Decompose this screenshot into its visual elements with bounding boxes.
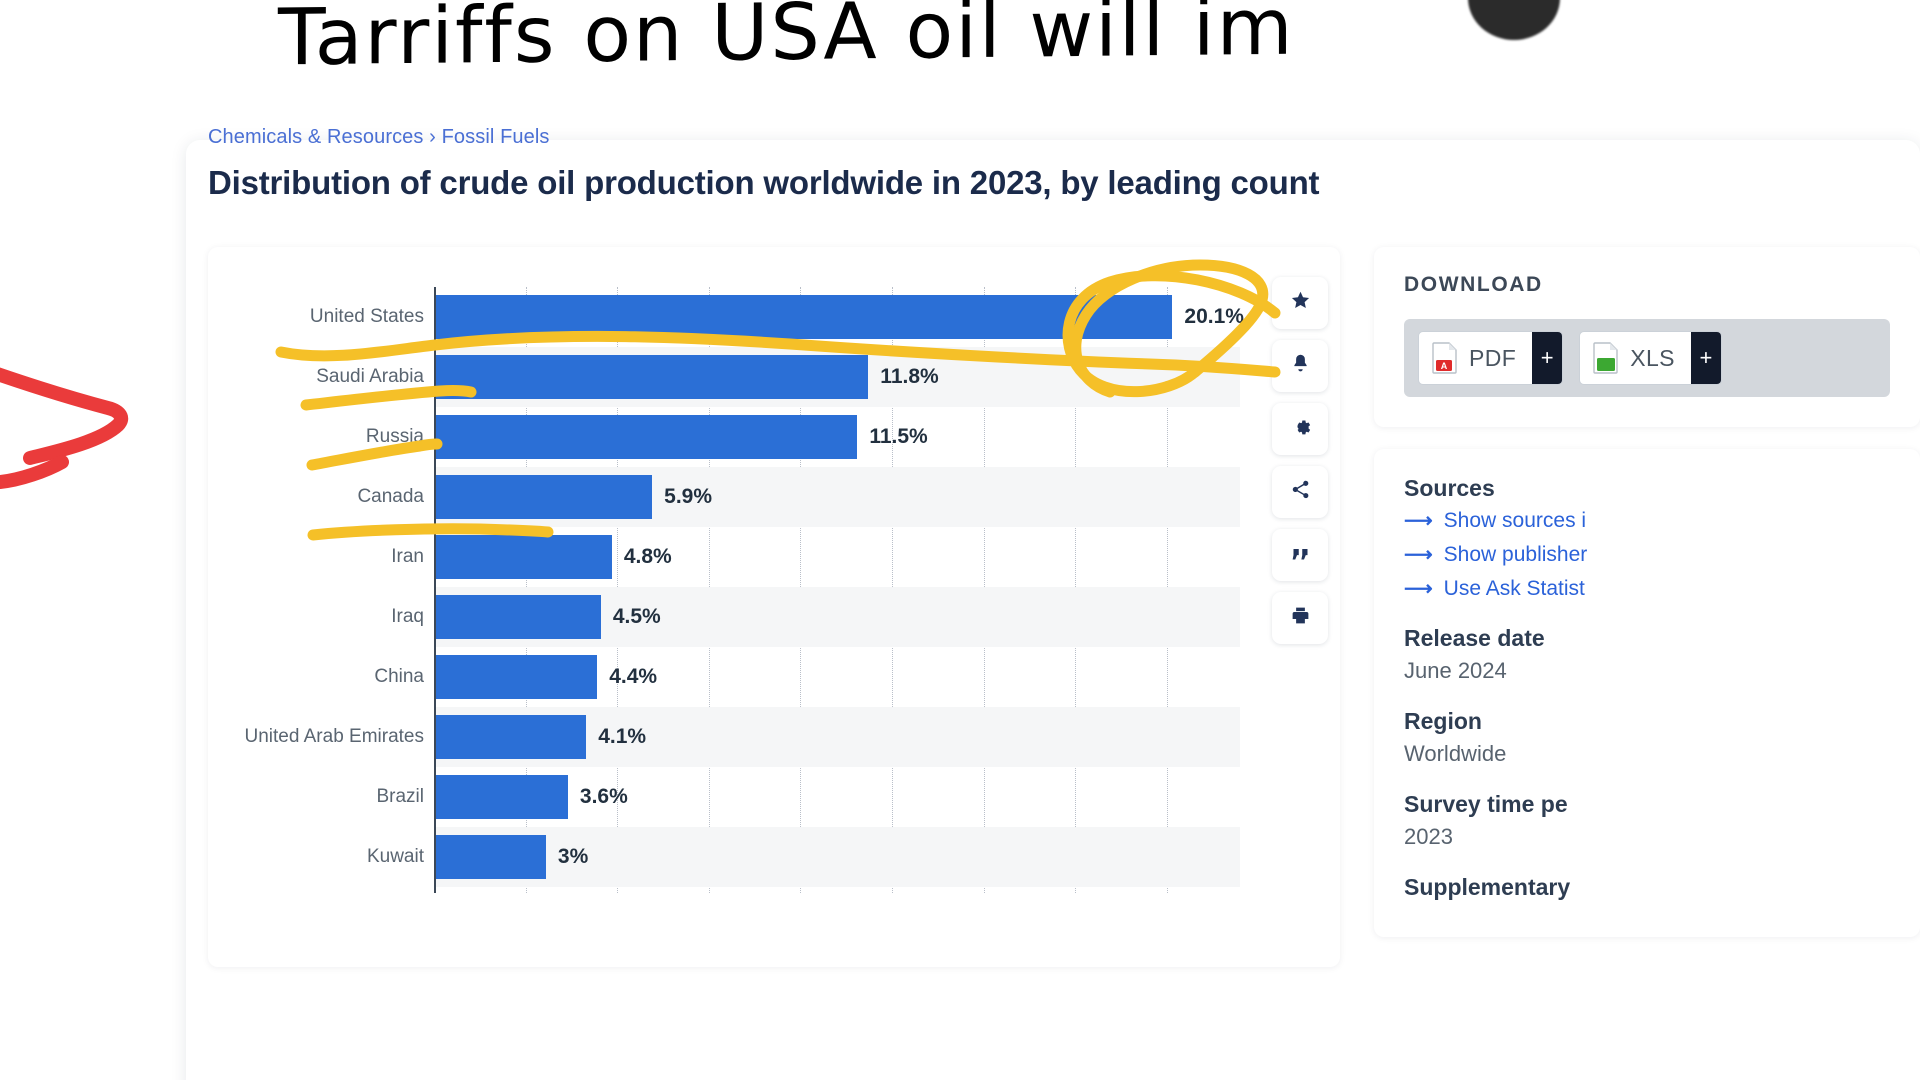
bar-value-label: 11.5% [869, 425, 927, 449]
source-link-ask-statista[interactable]: ⟶ Use Ask Statist [1404, 576, 1890, 601]
bell-icon [1290, 353, 1311, 379]
share-icon [1290, 479, 1311, 505]
row-band [436, 827, 1240, 887]
download-card: DOWNLOAD A PDF + [1374, 247, 1920, 427]
chart-toolbar [1272, 277, 1328, 644]
bar[interactable] [436, 535, 612, 579]
bar-value-label: 4.4% [609, 665, 657, 689]
download-xls-label: XLS [1630, 345, 1675, 372]
breadcrumb[interactable]: Chemicals & Resources › Fossil Fuels [208, 126, 549, 149]
arrow-right-icon: ⟶ [1404, 576, 1433, 601]
source-link-label: Use Ask Statist [1444, 577, 1585, 601]
bar-value-label: 5.9% [664, 485, 712, 509]
release-date-label: Release date [1404, 625, 1890, 652]
bar-row: 4.1%United Arab Emirates [434, 707, 1240, 767]
marker-blob [1468, 0, 1560, 40]
bar-value-label: 4.5% [613, 605, 661, 629]
region-value: Worldwide [1404, 741, 1890, 767]
handwritten-note: Tarriffs on USA oil will im [278, 0, 1295, 83]
download-pdf-label: PDF [1469, 345, 1516, 372]
release-date-value: June 2024 [1404, 658, 1890, 684]
download-pdf-button[interactable]: A PDF + [1418, 331, 1563, 385]
chart-panel: 20.1%United States11.8%Saudi Arabia11.5%… [208, 247, 1340, 967]
category-label: Saudi Arabia [316, 366, 424, 388]
category-label: United States [310, 306, 424, 328]
pdf-file-icon: A [1432, 342, 1458, 374]
xls-file-icon [1593, 342, 1619, 374]
bar-row: 4.4%China [434, 647, 1240, 707]
category-label: China [374, 666, 424, 688]
category-label: Iraq [391, 606, 424, 628]
bar[interactable] [436, 295, 1172, 339]
right-sidebar: DOWNLOAD A PDF + [1374, 247, 1920, 959]
bar[interactable] [436, 355, 868, 399]
bar-row: 20.1%United States [434, 287, 1240, 347]
bar-row: 11.5%Russia [434, 407, 1240, 467]
star-icon [1290, 290, 1311, 316]
bar[interactable] [436, 415, 857, 459]
download-xls-plus[interactable]: + [1691, 332, 1721, 384]
arrow-right-icon: ⟶ [1404, 542, 1433, 567]
bar[interactable] [436, 775, 568, 819]
bar[interactable] [436, 835, 546, 879]
download-heading: DOWNLOAD [1404, 273, 1890, 297]
survey-time-label: Survey time pe [1404, 791, 1890, 818]
bar-chart-plot: 20.1%United States11.8%Saudi Arabia11.5%… [434, 287, 1240, 947]
sources-heading: Sources [1404, 475, 1890, 502]
red-arrow-stroke [0, 368, 121, 458]
region-label: Region [1404, 708, 1890, 735]
bar[interactable] [436, 475, 652, 519]
category-label: Kuwait [367, 846, 424, 868]
bar-value-label: 3.6% [580, 785, 628, 809]
gear-icon [1290, 416, 1311, 442]
notify-button[interactable] [1272, 340, 1328, 392]
red-arrow-tail [0, 462, 62, 482]
bar-row: 4.8%Iran [434, 527, 1240, 587]
category-label: United Arab Emirates [244, 726, 424, 748]
print-icon [1290, 605, 1311, 631]
category-label: Canada [357, 486, 424, 508]
category-label: Brazil [376, 786, 424, 808]
source-link-label: Show sources i [1444, 509, 1586, 533]
quote-icon [1290, 542, 1311, 568]
print-button[interactable] [1272, 592, 1328, 644]
bar-value-label: 4.8% [624, 545, 672, 569]
category-label: Iran [391, 546, 424, 568]
arrow-right-icon: ⟶ [1404, 508, 1433, 533]
bar-row: 3.6%Brazil [434, 767, 1240, 827]
source-link-show-sources[interactable]: ⟶ Show sources i [1404, 508, 1890, 533]
red-arrow-annotation [0, 330, 200, 550]
survey-time-value: 2023 [1404, 824, 1890, 850]
bar-value-label: 4.1% [598, 725, 646, 749]
bar-row: 11.8%Saudi Arabia [434, 347, 1240, 407]
share-button[interactable] [1272, 466, 1328, 518]
bar-row: 5.9%Canada [434, 467, 1240, 527]
screenshot-root: Chemicals & Resources › Fossil Fuels Dis… [0, 0, 1920, 1080]
bar[interactable] [436, 655, 597, 699]
download-button-strip: A PDF + [1404, 319, 1890, 397]
source-link-label: Show publisher [1444, 543, 1588, 567]
bar-row: 4.5%Iraq [434, 587, 1240, 647]
bar-row: 3%Kuwait [434, 827, 1240, 887]
bar-value-label: 11.8% [880, 365, 938, 389]
settings-button[interactable] [1272, 403, 1328, 455]
bar[interactable] [436, 595, 601, 639]
bar-value-label: 3% [558, 845, 588, 869]
bar-value-label: 20.1% [1184, 305, 1244, 329]
supplementary-label: Supplementary [1404, 874, 1890, 901]
bar[interactable] [436, 715, 586, 759]
favorite-button[interactable] [1272, 277, 1328, 329]
sources-meta-card: Sources ⟶ Show sources i ⟶ Show publishe… [1374, 449, 1920, 937]
handwriting-annotation: Tarriffs on USA oil will im [0, 0, 1920, 120]
download-pdf-plus[interactable]: + [1532, 332, 1562, 384]
download-xls-button[interactable]: XLS + [1579, 331, 1722, 385]
svg-text:A: A [1441, 361, 1448, 371]
category-label: Russia [366, 426, 424, 448]
page-title: Distribution of crude oil production wor… [208, 164, 1920, 202]
source-link-show-publisher[interactable]: ⟶ Show publisher [1404, 542, 1890, 567]
cite-button[interactable] [1272, 529, 1328, 581]
